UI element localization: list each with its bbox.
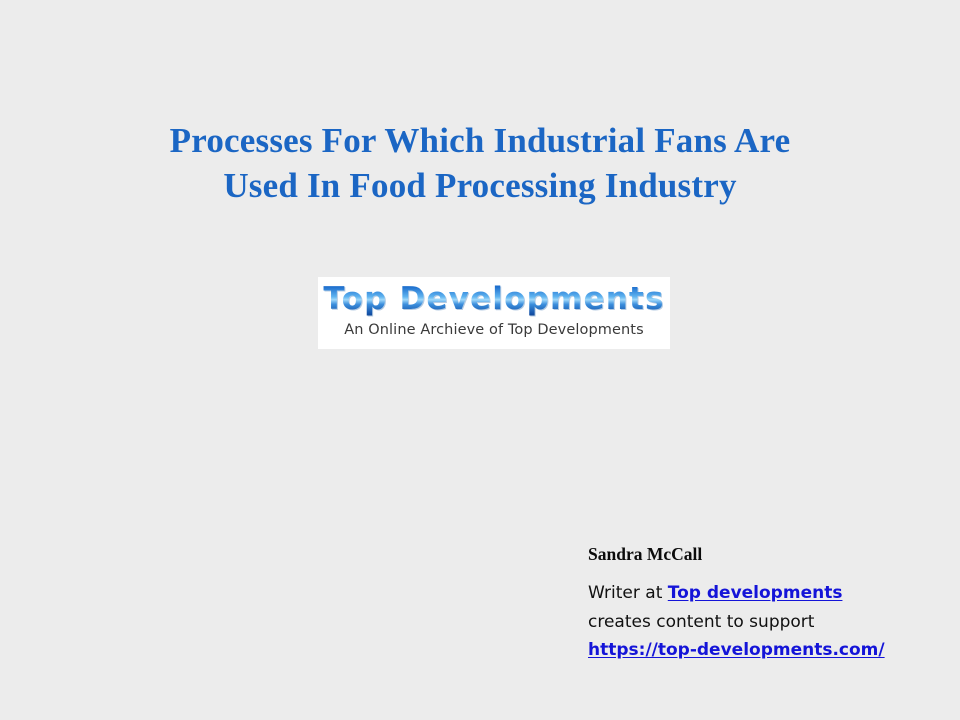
logo-tagline-text: An Online Archieve of Top Developments [344, 322, 644, 338]
brand-logo: Top Developments An Online Archieve of T… [318, 277, 670, 349]
author-bio: Writer at Top developments creates conte… [588, 579, 938, 665]
title-line-1: Processes For Which Industrial Fans Are [0, 118, 960, 163]
website-url-link[interactable]: https://top-developments.com/ [588, 636, 885, 665]
title-line-2: Used In Food Processing Industry [0, 163, 960, 208]
author-name: Sandra McCall [588, 543, 938, 565]
author-block: Sandra McCall Writer at Top developments… [588, 543, 938, 665]
author-bio-line2: creates content to support [588, 612, 814, 632]
author-bio-prefix: Writer at [588, 583, 668, 603]
page-title: Processes For Which Industrial Fans Are … [0, 118, 960, 208]
logo-wordmark-text: Top Developments [323, 280, 664, 318]
slide-canvas: Processes For Which Industrial Fans Are … [0, 0, 960, 720]
top-developments-link[interactable]: Top developments [668, 583, 843, 603]
